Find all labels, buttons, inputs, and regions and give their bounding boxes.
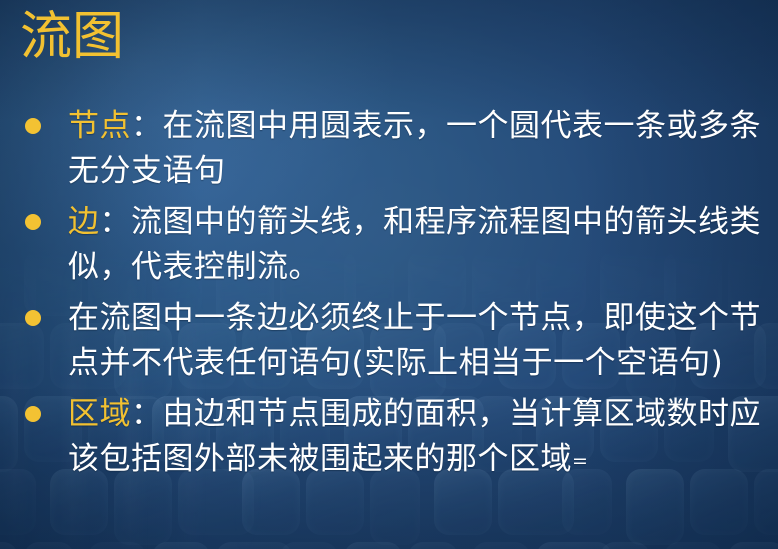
trailing-mark: =: [572, 450, 588, 472]
page-title: 流图: [20, 6, 124, 68]
list-item-text: 节点：在流图中用圆表示，一个圆代表一条或多条无分支语句: [68, 104, 778, 194]
bullet-dot-icon: [25, 118, 41, 134]
bullet-dot-icon: [25, 406, 41, 422]
bullet-list: 节点：在流图中用圆表示，一个圆代表一条或多条无分支语句边：流图中的箭头线，和程序…: [0, 104, 778, 490]
bullet-dot-icon: [25, 310, 41, 326]
highlighted-term: 节点: [68, 108, 131, 144]
highlighted-term: 边: [68, 204, 100, 240]
bullet-dot-icon: [25, 214, 41, 230]
slide-content: 流图 节点：在流图中用圆表示，一个圆代表一条或多条无分支语句边：流图中的箭头线，…: [0, 0, 778, 549]
list-item-text: 在流图中一条边必须终止于一个节点，即使这个节点并不代表任何语句(实际上相当于一个…: [68, 296, 778, 386]
list-item: 节点：在流图中用圆表示，一个圆代表一条或多条无分支语句: [0, 104, 778, 194]
list-item-body: ：由边和节点围成的面积，当计算区域数时应该包括图外部未被围起来的那个区域: [68, 396, 761, 477]
list-item-text: 区域：由边和节点围成的面积，当计算区域数时应该包括图外部未被围起来的那个区域=: [68, 392, 778, 484]
presentation-slide: 流图 节点：在流图中用圆表示，一个圆代表一条或多条无分支语句边：流图中的箭头线，…: [0, 0, 778, 549]
highlighted-term: 区域: [68, 396, 131, 432]
list-item-body: 在流图中一条边必须终止于一个节点，即使这个节点并不代表任何语句(实际上相当于一个…: [68, 300, 761, 381]
list-item: 在流图中一条边必须终止于一个节点，即使这个节点并不代表任何语句(实际上相当于一个…: [0, 296, 778, 386]
list-item-body: ：流图中的箭头线，和程序流程图中的箭头线类似，代表控制流。: [68, 204, 761, 285]
list-item-body: ：在流图中用圆表示，一个圆代表一条或多条无分支语句: [68, 108, 761, 189]
list-item: 区域：由边和节点围成的面积，当计算区域数时应该包括图外部未被围起来的那个区域=: [0, 392, 778, 484]
list-item: 边：流图中的箭头线，和程序流程图中的箭头线类似，代表控制流。: [0, 200, 778, 290]
list-item-text: 边：流图中的箭头线，和程序流程图中的箭头线类似，代表控制流。: [68, 200, 778, 290]
